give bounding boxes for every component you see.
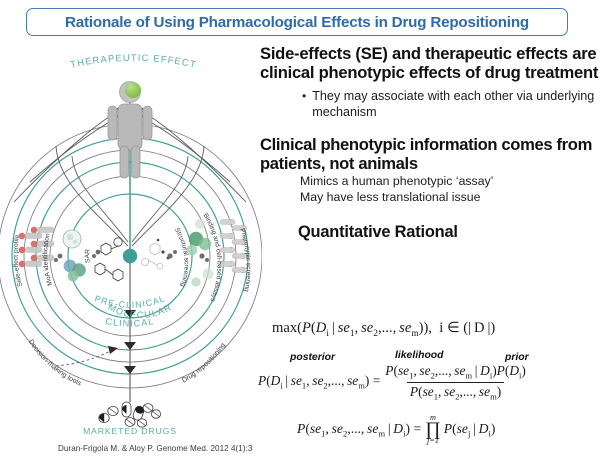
equation-max-posterior: max(P(Di | se1, se2,..., sem)), i ∈ (| D… [272, 319, 495, 339]
concentric-pharmacology-diagram: THERAPEUTIC EFFECT MOLECULAR PRE-CLINICA… [0, 34, 262, 454]
heading-quantitative-rational: Quantitative Rational [298, 223, 600, 242]
bullet-item-association: • They may associate with each other via… [302, 89, 600, 121]
label-sar: SAR [84, 249, 91, 264]
dashed-arrow [56, 350, 112, 366]
product-lower-limit: j=1 [427, 438, 439, 445]
label-marketed-drugs: MARKETED DRUGS [83, 426, 177, 436]
label-likelihood: likelihood [395, 350, 444, 361]
bayes-numerator: P(se1, se2,..., sem | Di)P(Di) [382, 363, 529, 382]
slide-title-bar: Rationale of Using Pharmacological Effec… [26, 8, 568, 36]
bayes-denominator: P(se1, se2,..., sem) [407, 382, 504, 402]
marketed-drugs-pills [99, 402, 161, 427]
product-rhs: P(sej | Di) [444, 421, 496, 439]
subline-mimics-assay: Mimics a human phenotypic ‘assay’ [300, 174, 600, 190]
subline-translational-issue: May have less translational issue [300, 190, 600, 206]
label-prior: prior [505, 352, 529, 363]
label-phenotypic-screening: Phenotypic screening [238, 228, 252, 293]
product-operator: m ∏ j=1 [425, 415, 441, 445]
label-posterior: posterior [290, 352, 335, 363]
heading-side-effects: Side-effects (SE) and therapeutic effect… [260, 44, 600, 83]
label-structural-screening: Structural screening [173, 227, 190, 288]
heading-clinical-info: Clinical phenotypic information comes fr… [260, 135, 600, 174]
page-title: Rationale of Using Pharmacological Effec… [65, 14, 529, 31]
equation-bayes-theorem: P(Di | se1, se2,..., sem) = P(se1, se2,.… [258, 363, 531, 401]
content-column: Side-effects (SE) and therapeutic effect… [256, 44, 600, 246]
molecule-sketches-faded [141, 243, 163, 269]
citation-text: Duran-Frigola M. & Aloy P. Genome Med. 2… [58, 444, 252, 453]
bayes-fraction: P(se1, se2,..., sem | Di)P(Di) P(se1, se… [382, 363, 529, 401]
cell-blob-left [63, 230, 86, 281]
bullet-text: They may associate with each other via u… [312, 89, 600, 121]
bayes-lhs: P(Di | se1, se2,..., sem) = [258, 373, 380, 391]
slide-canvas: Rationale of Using Pharmacological Effec… [0, 0, 600, 470]
label-therapeutic-effect: THERAPEUTIC EFFECT [69, 52, 198, 70]
molecule-sketches [95, 238, 123, 281]
center-node [123, 249, 137, 263]
equation-naive-bayes-product: P(se1, se2,..., sem | Di) = m ∏ j=1 P(se… [297, 415, 495, 445]
bullet-marker-icon: • [302, 89, 306, 121]
product-lhs: P(se1, se2,..., sem | Di) = [297, 421, 421, 439]
